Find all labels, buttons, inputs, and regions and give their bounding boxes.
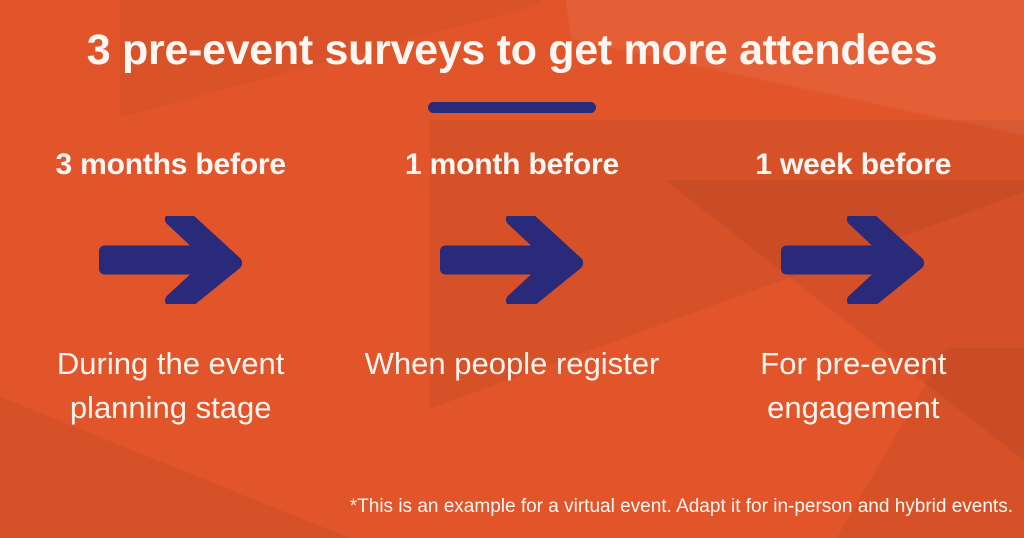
arrow-right-icon — [439, 214, 585, 306]
arrow-right-icon — [98, 214, 244, 306]
column-description: During the event planning stage — [21, 342, 321, 430]
title-divider-rule — [428, 102, 596, 113]
column-heading: 1 month before — [405, 150, 619, 180]
column-heading: 1 week before — [755, 150, 951, 180]
columns-container: 3 months before During the event plannin… — [0, 150, 1024, 430]
column-description: For pre-event engagement — [703, 342, 1003, 430]
arrow-right-icon — [780, 214, 926, 306]
column-description: When people register — [365, 342, 660, 386]
page-title: 3 pre-event surveys to get more attendee… — [0, 26, 1024, 75]
infographic-canvas: 3 pre-event surveys to get more attendee… — [0, 0, 1024, 538]
column-1-week-before: 1 week before For pre-event engagement — [683, 150, 1024, 430]
column-heading: 3 months before — [55, 150, 285, 180]
column-3-months-before: 3 months before During the event plannin… — [0, 150, 341, 430]
footnote-text: *This is an example for a virtual event.… — [350, 496, 1013, 518]
arrow-right-glyph — [780, 216, 926, 304]
arrow-right-glyph — [439, 216, 585, 304]
column-1-month-before: 1 month before When people register — [341, 150, 682, 430]
arrow-right-glyph — [98, 216, 244, 304]
